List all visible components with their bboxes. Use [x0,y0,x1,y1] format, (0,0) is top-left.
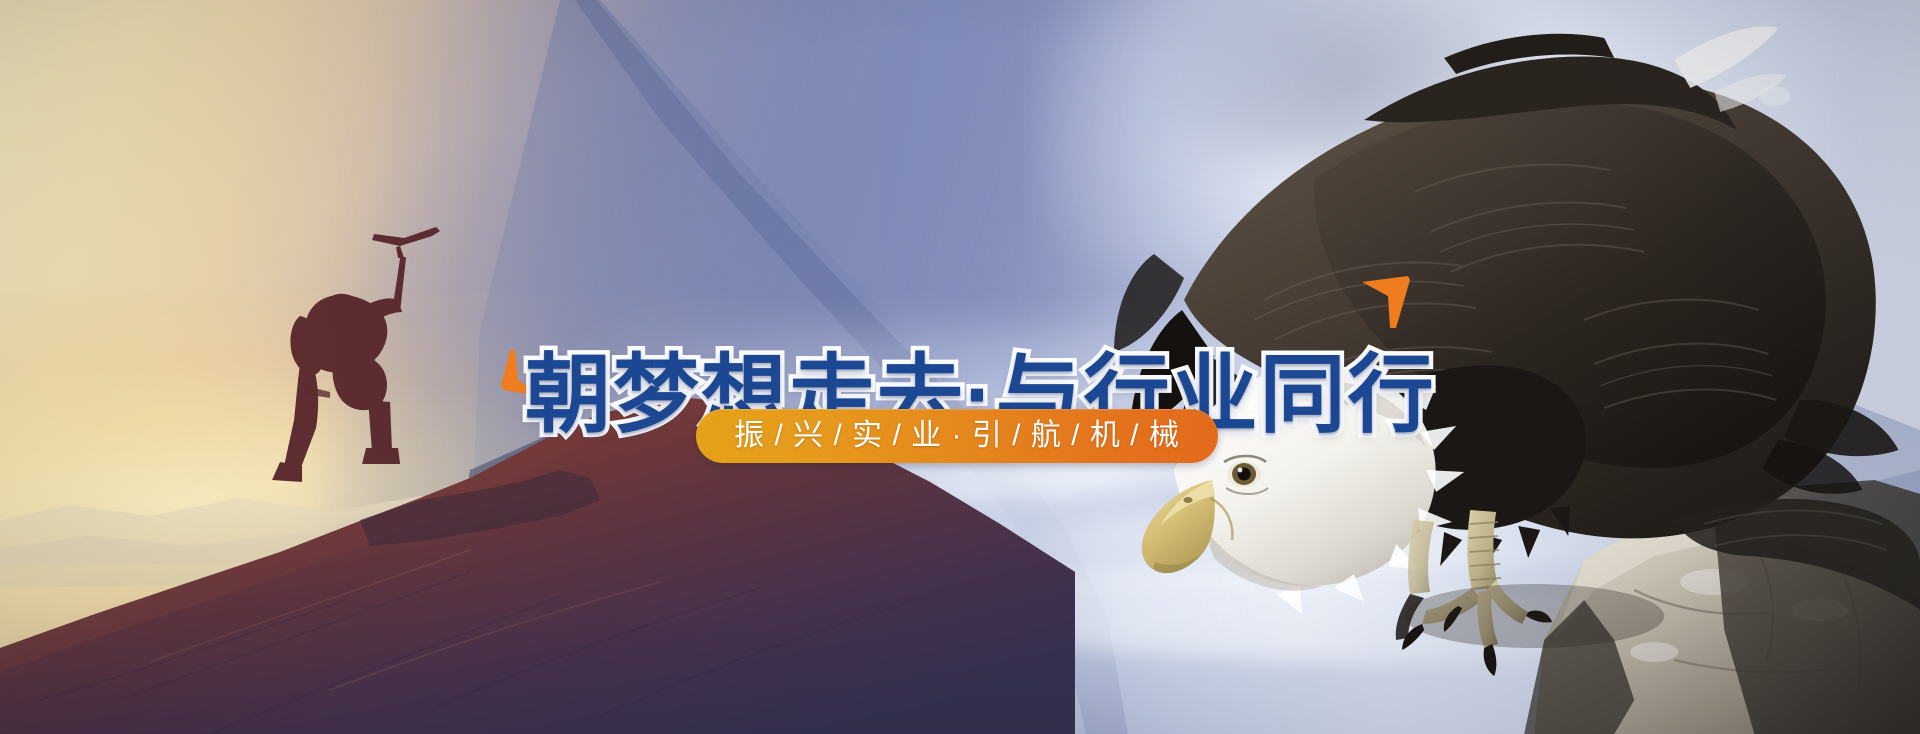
eagle-illustration [1114,0,1920,734]
hero-banner: 朝梦想走去·与行业同行 振 / 兴 / 实 / 业 · 引 / 航 / 机 / … [0,0,1920,734]
left-mountain-slope [0,0,1075,734]
climber-silhouette [272,227,440,482]
